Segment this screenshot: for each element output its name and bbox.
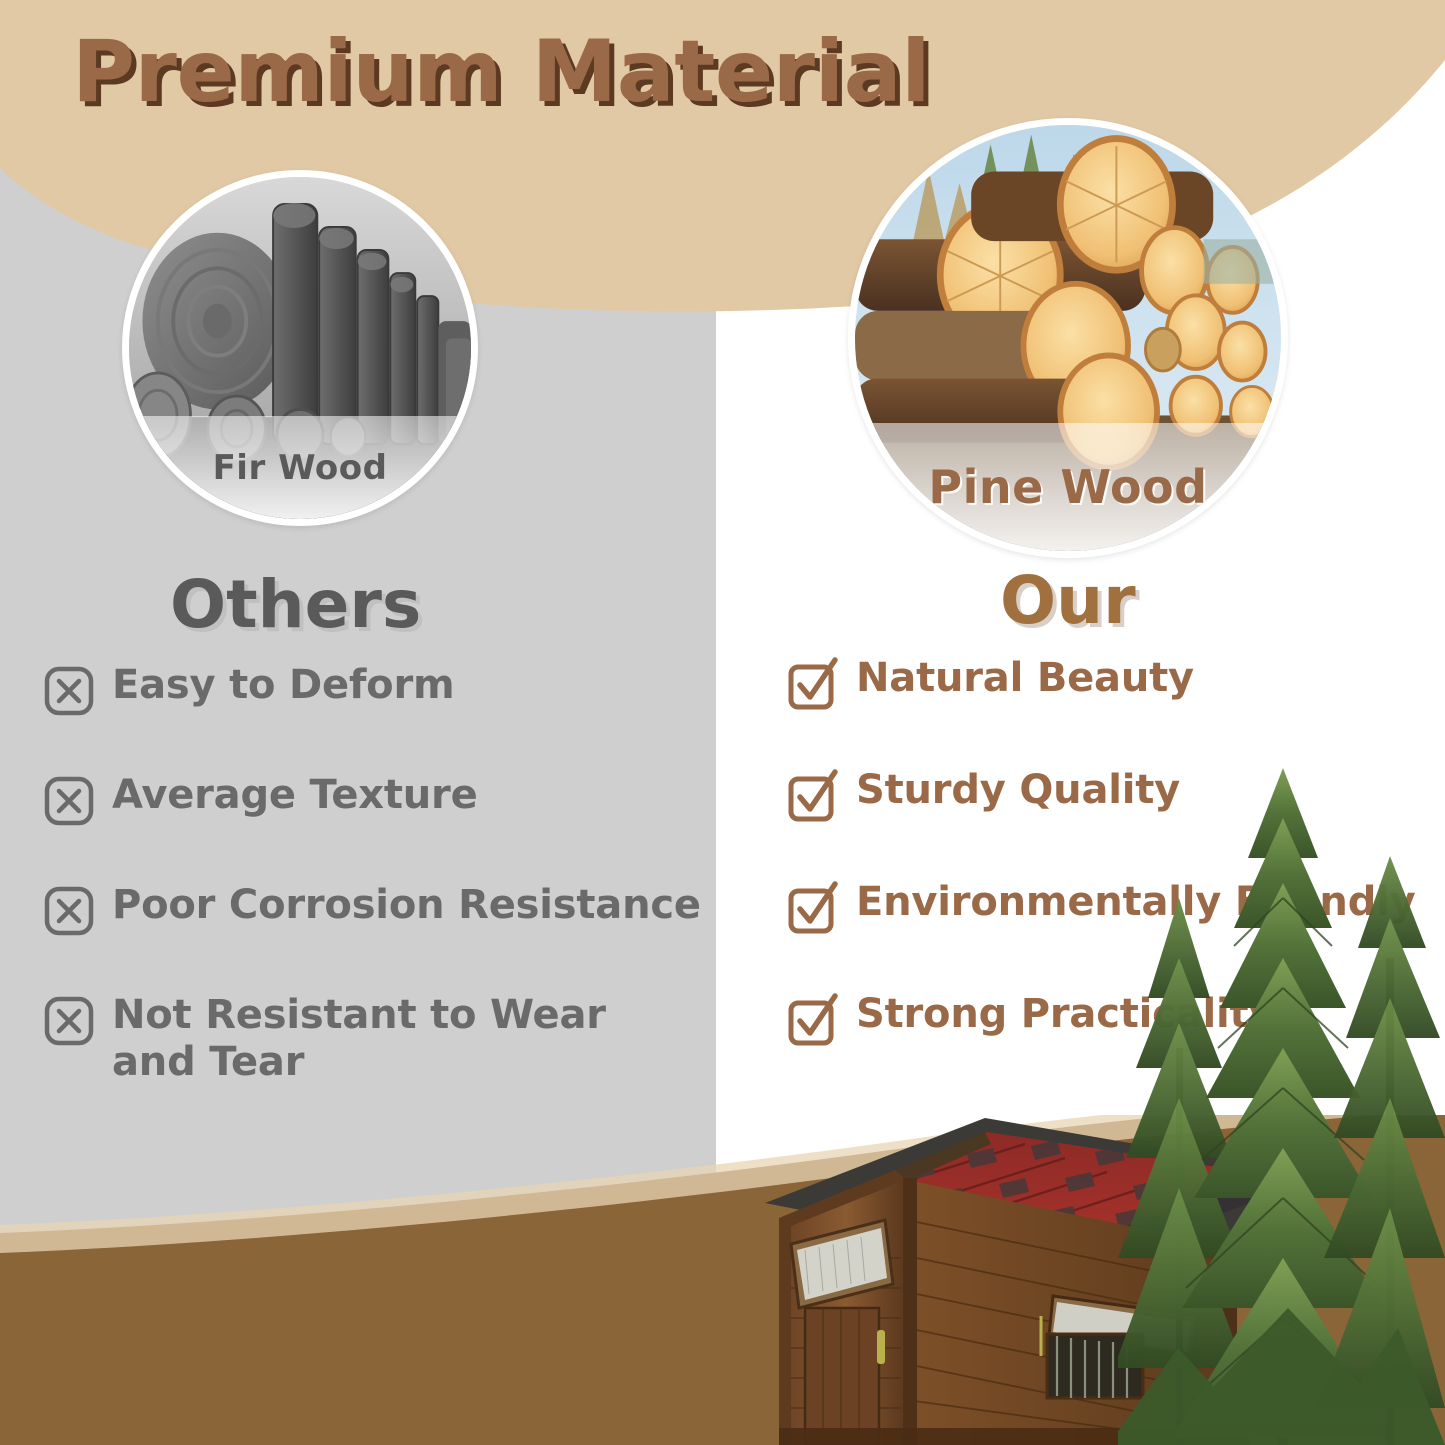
others-heading: Others: [170, 566, 421, 643]
pine-wood-caption-band: Pine Wood: [855, 423, 1281, 551]
list-item: Not Resistant to Wear and Tear: [44, 992, 714, 1086]
check-box-icon: [788, 883, 838, 933]
list-item: Easy to Deform: [44, 662, 714, 716]
check-box-icon: [788, 995, 838, 1045]
list-item: Average Texture: [44, 772, 714, 826]
list-item: Environmentally Friendly: [788, 879, 1438, 933]
fir-wood-caption-band: Fir Wood: [129, 416, 471, 519]
cross-box-icon: [44, 666, 94, 716]
list-item-label: Poor Corrosion Resistance: [112, 882, 701, 929]
infographic-page: Premium Material: [0, 0, 1445, 1445]
fir-wood-photo-circle: Fir Wood: [122, 170, 478, 526]
pine-wood-caption: Pine Wood: [928, 460, 1207, 514]
list-item-label: Easy to Deform: [112, 662, 454, 709]
list-item: Natural Beauty: [788, 655, 1438, 709]
list-item: Strong Practicality: [788, 991, 1438, 1045]
our-heading: Our: [1000, 562, 1136, 639]
list-item-label: Environmentally Friendly: [856, 879, 1416, 926]
list-item: Poor Corrosion Resistance: [44, 882, 714, 936]
list-item-label: Not Resistant to Wear and Tear: [112, 992, 632, 1086]
fir-wood-caption: Fir Wood: [213, 448, 388, 488]
our-feature-list: Natural Beauty Sturdy Quality Environmen…: [788, 655, 1438, 1103]
list-item: Sturdy Quality: [788, 767, 1438, 821]
check-box-icon: [788, 659, 838, 709]
check-box-icon: [788, 771, 838, 821]
cross-box-icon: [44, 886, 94, 936]
list-item-label: Sturdy Quality: [856, 767, 1180, 814]
bottom-brown-sweep: [0, 1115, 1445, 1445]
list-item-label: Average Texture: [112, 772, 478, 819]
others-feature-list: Easy to Deform Average Texture Poor Corr…: [44, 662, 714, 1142]
list-item-label: Strong Practicality: [856, 991, 1274, 1038]
pine-wood-photo-circle: Pine Wood: [848, 118, 1288, 558]
list-item-label: Natural Beauty: [856, 655, 1194, 702]
cross-box-icon: [44, 996, 94, 1046]
cross-box-icon: [44, 776, 94, 826]
page-title: Premium Material: [72, 22, 930, 122]
